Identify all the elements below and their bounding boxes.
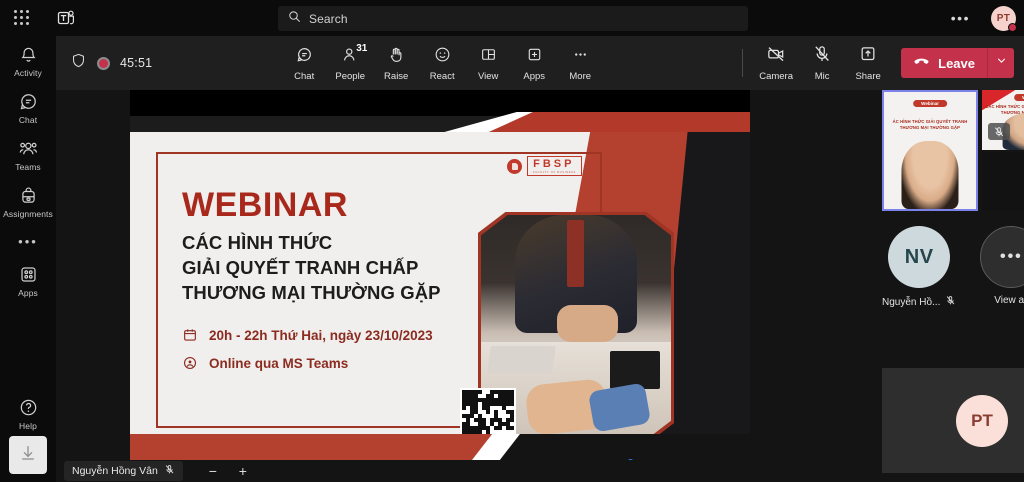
plus-square-icon: [525, 45, 544, 69]
view-button[interactable]: View: [465, 42, 511, 85]
toolbar-center-group: Chat 31 People: [281, 42, 603, 85]
mic-button-label: Mic: [815, 71, 830, 82]
view-all-button[interactable]: ••• View all: [980, 226, 1024, 309]
sidebar-item-help[interactable]: Help: [0, 389, 56, 436]
titlebar-more-button[interactable]: •••: [951, 11, 970, 25]
camera-off-icon: [766, 44, 786, 69]
slide-info-datetime: 20h - 22h Thứ Hai, ngày 23/10/2023: [182, 327, 512, 343]
presentation-controls-bar: Nguyễn Hồng Vân − +: [56, 460, 750, 482]
leave-button[interactable]: Leave: [901, 48, 1014, 78]
toolbar-divider: [742, 49, 743, 77]
tile-video-feed: Webinar CÁC HÌNH THỨC GIẢI QUYẾT TRANH C…: [982, 90, 1024, 150]
raise-hand-button[interactable]: Raise: [373, 42, 419, 85]
title-bar: Search ••• PT: [0, 0, 1024, 36]
mic-off-icon: [164, 462, 175, 480]
tile-overlay-line-1: CÁC HÌNH THỨC GIẢI QUYẾT TRANH CHẤP: [984, 104, 1024, 110]
slide-subtitle-line-3: THƯƠNG MẠI THƯỜNG GẶP: [182, 280, 512, 305]
apps-button-label: Apps: [523, 71, 545, 82]
sidebar-label-teams: Teams: [15, 162, 41, 172]
view-all-label-row: View all: [994, 295, 1024, 306]
leave-dropdown-button[interactable]: [987, 48, 1014, 78]
avatar: PT: [956, 395, 1008, 447]
zoom-controls: − +: [201, 461, 255, 481]
mic-off-icon: [812, 44, 832, 69]
download-arrow-icon: [18, 443, 38, 468]
bell-icon: [18, 44, 39, 65]
hangup-icon: [912, 52, 931, 74]
download-app-button[interactable]: [9, 436, 47, 474]
record-dot-icon: [97, 57, 110, 70]
more-button-label: More: [569, 71, 591, 82]
presentation-slide: FBSP FACULTY OF BUSINESS WEBINAR CÁC HÌN…: [130, 90, 750, 460]
avatar-row: NV Nguyễn Hồ...: [882, 226, 1024, 309]
share-button-label: Share: [855, 71, 880, 82]
fbsp-wordmark: FBSP FACULTY OF BUSINESS: [527, 156, 582, 176]
chat-button-label: Chat: [294, 71, 314, 82]
apps-button[interactable]: Apps: [511, 42, 557, 85]
participant-name-row: Nguyễn Hồ...: [882, 295, 956, 309]
sidebar-item-chat[interactable]: Chat: [0, 83, 56, 130]
left-rail: Activity Chat Teams: [0, 36, 56, 482]
chat-button[interactable]: Chat: [281, 42, 327, 85]
sidebar-label-help: Help: [19, 421, 37, 431]
slide-subtitle: CÁC HÌNH THỨC GIẢI QUYẾT TRANH CHẤP THƯƠ…: [182, 230, 512, 305]
avatar-initials: PT: [997, 13, 1010, 24]
slide-subtitle-line-2: GIẢI QUYẾT TRANH CHẤP: [182, 255, 512, 280]
slide-text-block: WEBINAR CÁC HÌNH THỨC GIẢI QUYẾT TRANH C…: [182, 186, 512, 371]
chevron-down-icon: [995, 54, 1008, 72]
people-icon: [18, 138, 39, 159]
more-button[interactable]: More: [557, 42, 603, 85]
sidebar-label-activity: Activity: [14, 68, 42, 78]
location-pin-icon: [182, 355, 198, 371]
sidebar-item-assignments[interactable]: Assignments: [0, 177, 56, 224]
participant-name: Nguyễn Hồ...: [882, 297, 940, 308]
sidebar-label-apps: Apps: [18, 288, 38, 298]
raise-button-label: Raise: [384, 71, 408, 82]
slide-info-location: Online qua MS Teams: [182, 355, 512, 371]
chat-bubble-icon: [295, 45, 314, 69]
sidebar-label-assignments: Assignments: [3, 209, 53, 219]
fbsp-name: FBSP: [533, 158, 576, 170]
slide-info-list: 20h - 22h Thứ Hai, ngày 23/10/2023: [182, 327, 512, 371]
search-input[interactable]: Search: [278, 6, 748, 31]
active-speaker-tile[interactable]: Webinar ÁC HÌNH THỨC GIẢI QUYẾT TRANH TH…: [882, 90, 978, 211]
people-count-badge: 31: [356, 43, 367, 54]
grid-apps-icon: [18, 264, 39, 285]
tile-overlay-pill: Webinar: [1014, 94, 1024, 101]
tile-person-video: [901, 141, 958, 209]
tile-overlay-text: ÁC HÌNH THỨC GIẢI QUYẾT TRANH THƯƠNG MẠI…: [886, 119, 974, 131]
participants-panel: Webinar ÁC HÌNH THỨC GIẢI QUYẾT TRANH TH…: [824, 90, 1024, 482]
ellipsis-icon: [571, 45, 590, 69]
slide-subtitle-line-1: CÁC HÌNH THỨC: [182, 230, 512, 255]
avatar: NV: [888, 226, 950, 288]
participant-tile-3[interactable]: [982, 152, 1024, 211]
view-all-dots: •••: [1000, 248, 1023, 266]
leave-main[interactable]: Leave: [901, 52, 987, 74]
presenter-name: Nguyễn Hồng Vân: [72, 465, 158, 477]
sidebar-item-activity[interactable]: Activity: [0, 36, 56, 83]
meeting-toolbar: 45:51 Chat 31: [56, 36, 1024, 90]
layout-grid-icon: [479, 45, 498, 69]
leave-button-label: Leave: [938, 56, 975, 71]
view-button-label: View: [478, 71, 498, 82]
presence-badge: [1008, 23, 1017, 32]
camera-button-label: Camera: [759, 71, 793, 82]
slide-datetime-text: 20h - 22h Thứ Hai, ngày 23/10/2023: [209, 328, 433, 343]
app-launcher-icon[interactable]: [14, 10, 30, 26]
smiley-icon: [433, 45, 452, 69]
shared-content-area[interactable]: FBSP FACULTY OF BUSINESS WEBINAR CÁC HÌN…: [130, 90, 750, 460]
slide-title: WEBINAR: [182, 186, 512, 224]
teams-meeting-window: Search ••• PT Activity: [0, 0, 1024, 482]
avatar-initials: NV: [905, 246, 934, 269]
zoom-out-button[interactable]: −: [201, 461, 225, 481]
tile-video-feed: Webinar ÁC HÌNH THỨC GIẢI QUYẾT TRANH TH…: [884, 92, 976, 209]
react-button-label: React: [430, 71, 455, 82]
presenter-chip: Nguyễn Hồng Vân: [64, 461, 183, 481]
slide-location-text: Online qua MS Teams: [209, 356, 348, 371]
raise-hand-icon: [387, 45, 406, 69]
meeting-stage: FBSP FACULTY OF BUSINESS WEBINAR CÁC HÌN…: [56, 90, 1024, 482]
sidebar-item-apps[interactable]: Apps: [0, 256, 56, 303]
search-icon: [288, 10, 301, 28]
tile-overlay-pill: Webinar: [913, 100, 947, 107]
people-button[interactable]: 31 People: [327, 42, 373, 85]
mic-off-icon: [945, 295, 956, 309]
share-up-arrow-icon: [858, 44, 878, 69]
calendar-icon: [182, 327, 198, 343]
mic-off-icon: [988, 123, 1010, 140]
teams-logo-icon: [56, 8, 76, 28]
fbsp-logo-icon: [507, 159, 522, 174]
camera-button[interactable]: Camera: [753, 41, 799, 85]
backpack-icon: [18, 185, 39, 206]
participant-avatar-nv[interactable]: NV Nguyễn Hồ...: [882, 226, 956, 309]
question-circle-icon: [18, 397, 39, 418]
mic-off-icon: [1020, 173, 1024, 190]
share-button[interactable]: Share: [845, 41, 891, 85]
react-button[interactable]: React: [419, 42, 465, 85]
fbsp-tagline: FACULTY OF BUSINESS: [533, 170, 576, 175]
mic-button[interactable]: Mic: [799, 41, 845, 85]
shield-icon[interactable]: [70, 52, 87, 74]
sidebar-more-button[interactable]: •••: [18, 224, 38, 256]
zoom-in-button[interactable]: +: [231, 461, 255, 481]
sidebar-label-chat: Chat: [19, 115, 37, 125]
search-placeholder: Search: [309, 12, 348, 26]
ellipsis-icon: •••: [980, 226, 1024, 288]
toolbar-left-group: 45:51: [56, 52, 152, 74]
chat-bubble-icon: [18, 91, 39, 112]
toolbar-right-group: Camera Mic: [732, 41, 1024, 85]
avatar[interactable]: PT: [991, 6, 1016, 31]
sidebar-item-teams[interactable]: Teams: [0, 130, 56, 177]
participant-tile-2[interactable]: Webinar CÁC HÌNH THỨC GIẢI QUYẾT TRANH C…: [982, 90, 1024, 150]
people-button-label: People: [335, 71, 365, 82]
slide-body: FBSP FACULTY OF BUSINESS WEBINAR CÁC HÌN…: [130, 132, 750, 460]
avatar-initials: PT: [971, 411, 993, 431]
view-all-label: View all: [994, 295, 1024, 306]
tile-overlay-line-2: THƯƠNG MẠI THƯỜNG GẶP: [886, 125, 974, 131]
fbsp-logo: FBSP FACULTY OF BUSINESS: [507, 156, 582, 176]
self-video-tile[interactable]: PT: [882, 368, 1024, 473]
meeting-timer: 45:51: [120, 56, 152, 70]
